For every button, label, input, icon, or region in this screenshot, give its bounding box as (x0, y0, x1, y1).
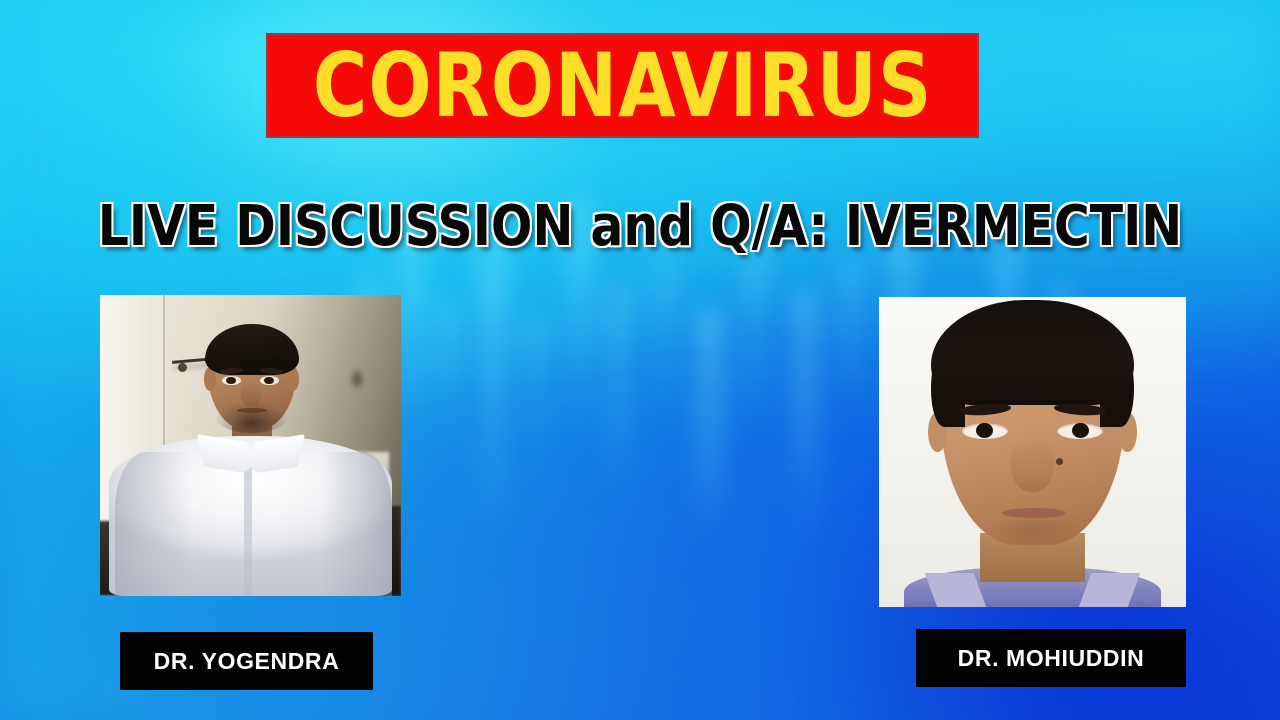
speaker-photo-right (879, 297, 1186, 607)
speaker-photo-left (100, 295, 401, 596)
speaker-left-shirt-shadow-right (320, 452, 392, 596)
speaker-name-right-text: DR. MOHIUDDIN (958, 645, 1145, 672)
subtitle-text: LIVE DISCUSSION and Q/A: IVERMECTIN (19, 196, 1261, 258)
video-thumbnail: CORONAVIRUS LIVE DISCUSSION and Q/A: IVE… (0, 0, 1280, 720)
title-text: CORONAVIRUS (313, 42, 933, 130)
curtain-rod-knob (178, 363, 187, 372)
speaker-left-shirt-placket (244, 464, 252, 596)
wall-fixture (349, 367, 365, 391)
speaker-left-mouth (237, 408, 267, 413)
speaker-right-chin-shadow (990, 520, 1076, 551)
speaker-name-left-text: DR. YOGENDRA (154, 648, 340, 675)
speaker-photo-left-image (100, 295, 401, 596)
speaker-name-label-left: DR. YOGENDRA (120, 632, 373, 690)
speaker-left-shirt-shadow-left (115, 452, 193, 596)
speaker-left-beard (214, 394, 289, 433)
speaker-right-mole (1056, 458, 1063, 465)
speaker-name-label-right: DR. MOHIUDDIN (916, 629, 1186, 687)
title-banner: CORONAVIRUS (266, 33, 979, 138)
speaker-photo-right-image (879, 297, 1186, 607)
speaker-right-nose (1011, 437, 1054, 493)
